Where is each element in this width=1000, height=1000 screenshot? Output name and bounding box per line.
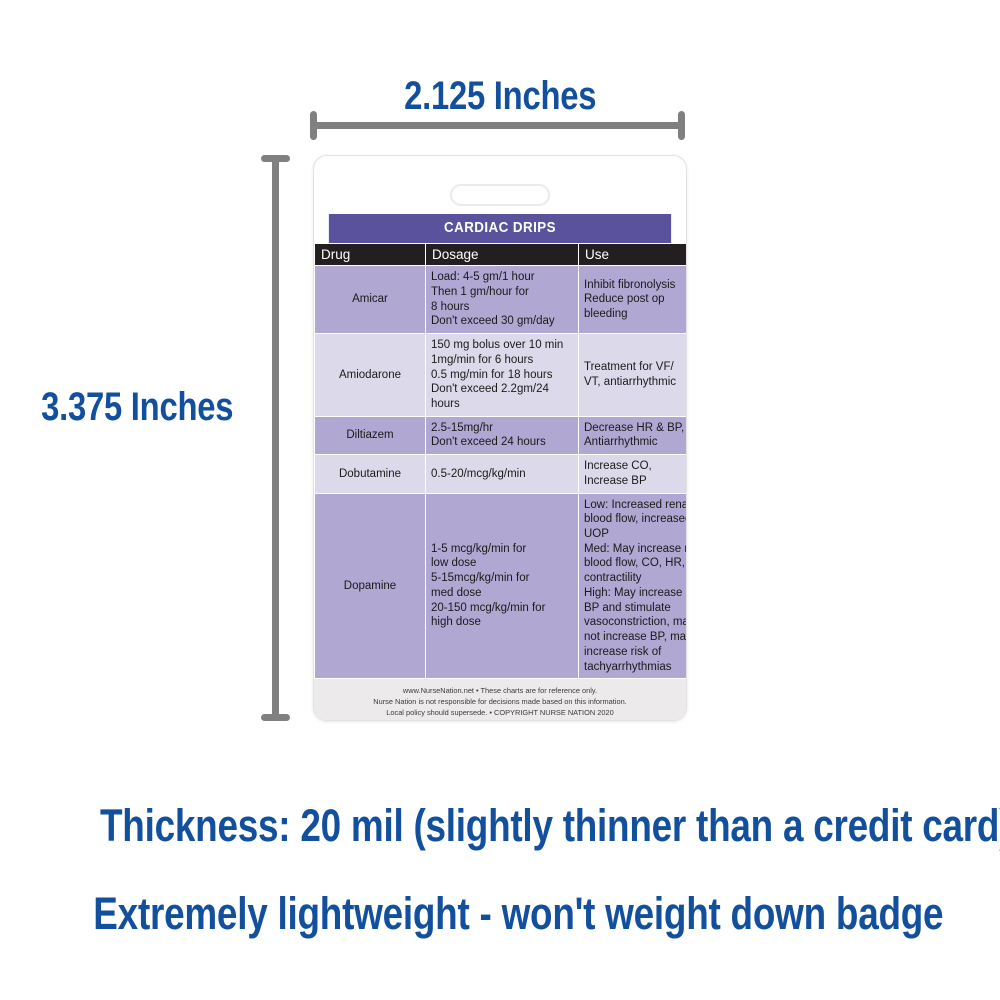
cell-use: Low: Increased renal blood flow, increas… xyxy=(579,493,688,679)
height-dimension-label: 3.375 Inches xyxy=(12,385,262,430)
cell-dosage: 2.5-15mg/hr Don't exceed 24 hours xyxy=(426,416,579,454)
cell-drug: Diltiazem xyxy=(315,416,426,454)
cell-use: Inhibit fibronolysis Reduce post op blee… xyxy=(579,266,688,334)
cell-drug: Dopamine xyxy=(315,493,426,679)
table-row: Diltiazem2.5-15mg/hr Don't exceed 24 hou… xyxy=(315,416,688,454)
badge-slot-punch-icon xyxy=(450,184,550,206)
footer-line-2: Nurse Nation is not responsible for deci… xyxy=(324,697,676,708)
width-dimension-text: 2.125 Inches xyxy=(404,74,596,119)
tagline-weight: Extremely lightweight - won't weight dow… xyxy=(0,888,1000,940)
cell-drug: Amicar xyxy=(315,266,426,334)
table-row: Dopamine1-5 mcg/kg/min for low dose 5-15… xyxy=(315,493,688,679)
badge-card: CARDIAC DRIPS Drug Dosage Use AmicarLoad… xyxy=(313,155,687,721)
cell-dosage: Load: 4-5 gm/1 hour Then 1 gm/hour for 8… xyxy=(426,266,579,334)
table-header: Drug Dosage Use xyxy=(315,244,688,266)
cell-dosage: 150 mg bolus over 10 min 1mg/min for 6 h… xyxy=(426,334,579,417)
column-header-dosage: Dosage xyxy=(426,244,579,266)
width-dimension-bracket xyxy=(310,122,685,129)
cell-dosage: 1-5 mcg/kg/min for low dose 5-15mcg/kg/m… xyxy=(426,493,579,679)
tagline-thickness: Thickness: 20 mil (slightly thinner than… xyxy=(0,800,1000,852)
cell-use: Decrease HR & BP, Antiarrhythmic xyxy=(579,416,688,454)
card-footer-disclaimer: www.NurseNation.net • These charts are f… xyxy=(314,679,686,721)
table-row: Amiodarone150 mg bolus over 10 min 1mg/m… xyxy=(315,334,688,417)
tagline-weight-text: Extremely lightweight - won't weight dow… xyxy=(93,888,943,940)
chart-title: CARDIAC DRIPS xyxy=(329,214,671,243)
cell-drug: Dobutamine xyxy=(315,455,426,493)
height-dimension-bracket xyxy=(272,155,279,721)
footer-line-3: Local policy should supersede. • COPYRIG… xyxy=(324,708,676,719)
column-header-drug: Drug xyxy=(315,244,426,266)
width-dimension-label: 2.125 Inches xyxy=(0,74,1000,119)
cell-use: Treatment for VF/ VT, antiarrhythmic xyxy=(579,334,688,417)
cell-use: Increase CO, Increase BP xyxy=(579,455,688,493)
tagline-thickness-text: Thickness: 20 mil (slightly thinner than… xyxy=(100,800,1000,852)
column-header-use: Use xyxy=(579,244,688,266)
table-header-row: Drug Dosage Use xyxy=(315,244,688,266)
table-row: Dobutamine0.5-20/mcg/kg/minIncrease CO, … xyxy=(315,455,688,493)
table-row: AmicarLoad: 4-5 gm/1 hour Then 1 gm/hour… xyxy=(315,266,688,334)
table-body: AmicarLoad: 4-5 gm/1 hour Then 1 gm/hour… xyxy=(315,266,688,679)
footer-line-1: www.NurseNation.net • These charts are f… xyxy=(324,686,676,697)
cell-dosage: 0.5-20/mcg/kg/min xyxy=(426,455,579,493)
card-content: CARDIAC DRIPS Drug Dosage Use AmicarLoad… xyxy=(314,214,686,721)
height-dimension-text: 3.375 Inches xyxy=(41,385,233,430)
cell-drug: Amiodarone xyxy=(315,334,426,417)
cardiac-drips-table: Drug Dosage Use AmicarLoad: 4-5 gm/1 hou… xyxy=(314,243,687,679)
